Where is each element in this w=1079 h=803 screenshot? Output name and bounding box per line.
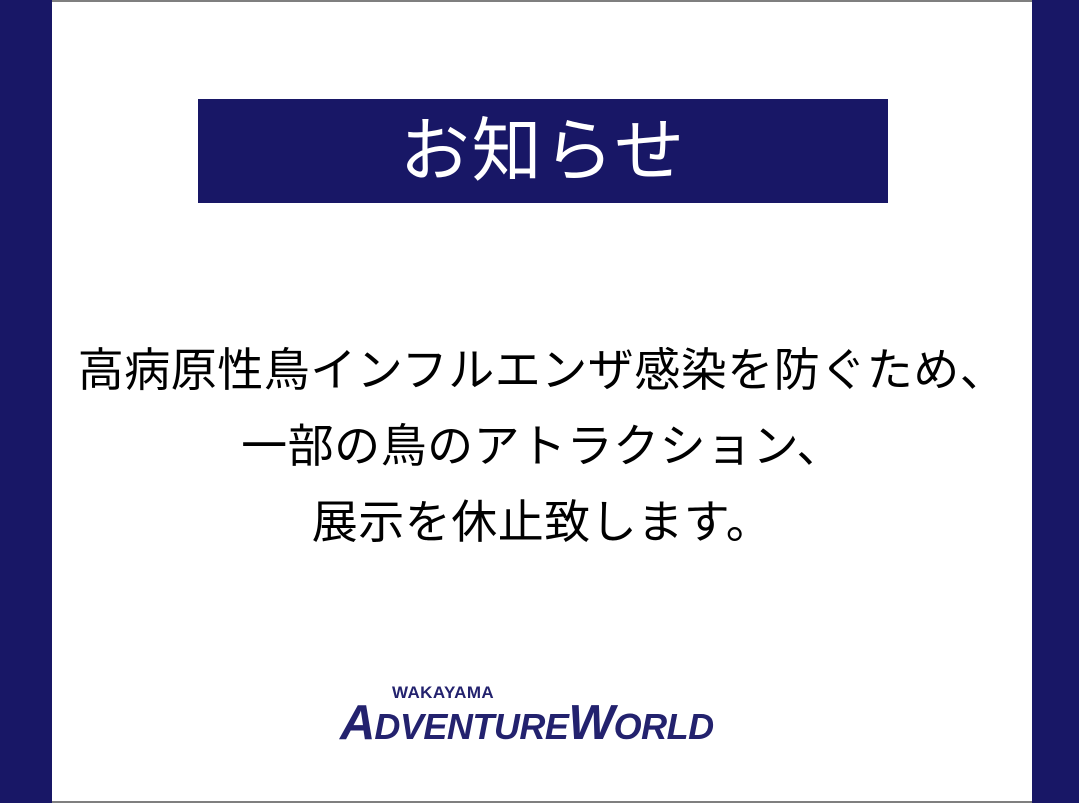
logo-a-cap: A: [340, 696, 374, 750]
message-line-3: 展示を休止致します。: [52, 484, 1032, 560]
logo-inner: WAKAYAMA ADVENTUREWORLD: [340, 684, 744, 746]
logo-orld: ORLD: [614, 706, 714, 747]
logo-w-cap: W: [568, 696, 613, 750]
left-navy-strip: [0, 0, 52, 803]
logo-dventure: DVENTURE: [374, 706, 568, 747]
message-line-2: 一部の鳥のアトラクション、: [52, 408, 1032, 484]
header-banner: お知らせ: [198, 99, 888, 203]
brand-logo: WAKAYAMA ADVENTUREWORLD: [52, 684, 1032, 746]
message-line-1: 高病原性鳥インフルエンザ感染を防ぐため、: [52, 332, 1032, 408]
notice-message: 高病原性鳥インフルエンザ感染を防ぐため、 一部の鳥のアトラクション、 展示を休止…: [52, 332, 1032, 560]
right-navy-strip: [1032, 0, 1079, 803]
notice-canvas: お知らせ 高病原性鳥インフルエンザ感染を防ぐため、 一部の鳥のアトラクション、 …: [0, 0, 1079, 803]
page-title: お知らせ: [400, 116, 687, 186]
logo-adventure-world-text: ADVENTUREWORLD: [340, 699, 714, 748]
content-area: お知らせ 高病原性鳥インフルエンザ感染を防ぐため、 一部の鳥のアトラクション、 …: [52, 2, 1032, 801]
